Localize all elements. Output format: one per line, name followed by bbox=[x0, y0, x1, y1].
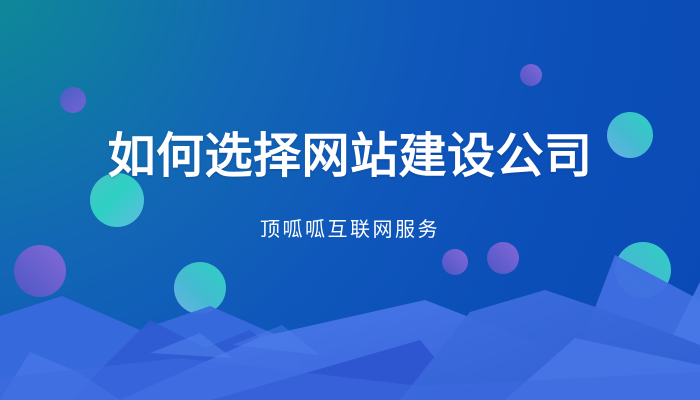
promo-banner: 如何选择网站建设公司 顶呱呱互联网服务 bbox=[0, 0, 700, 400]
mountain-silhouette-layer bbox=[0, 0, 700, 400]
